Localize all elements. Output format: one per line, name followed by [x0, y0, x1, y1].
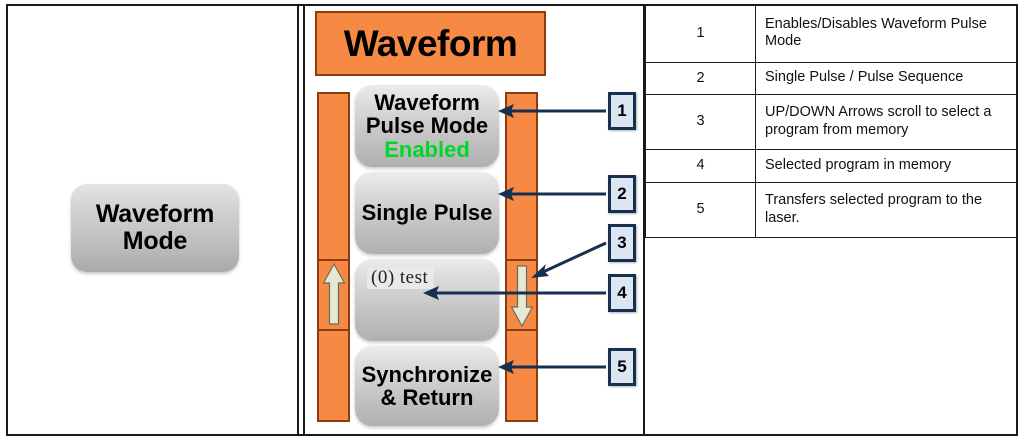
legend-number-2: 2 [646, 63, 756, 95]
callout-1[interactable]: 1 [608, 92, 636, 130]
legend-text-4: Selected program in memory [756, 150, 1018, 183]
legend-text-1: Enables/Disables Waveform Pulse Mode [756, 5, 1018, 63]
table-row: 4 Selected program in memory [646, 150, 1018, 183]
legend-text-5: Transfers selected program to the laser. [756, 183, 1018, 238]
table-row: 1 Enables/Disables Waveform Pulse Mode [646, 5, 1018, 63]
callout-4[interactable]: 4 [608, 274, 636, 312]
table-row: 5 Transfers selected program to the lase… [646, 183, 1018, 238]
legend-number-3: 3 [646, 95, 756, 150]
callout-4-number: 4 [617, 283, 626, 303]
legend-number-1: 1 [646, 5, 756, 63]
table-row: 3 UP/DOWN Arrows scroll to select a prog… [646, 95, 1018, 150]
callout-2-number: 2 [617, 184, 626, 204]
callout-1-number: 1 [617, 101, 626, 121]
legend-number-5: 5 [646, 183, 756, 238]
callout-5[interactable]: 5 [608, 348, 636, 386]
callout-3[interactable]: 3 [608, 224, 636, 262]
callout-5-number: 5 [617, 357, 626, 377]
legend-table-panel: 1 Enables/Disables Waveform Pulse Mode 2… [645, 4, 1018, 436]
legend-table: 1 Enables/Disables Waveform Pulse Mode 2… [645, 4, 1018, 238]
callout-2[interactable]: 2 [608, 175, 636, 213]
legend-text-2: Single Pulse / Pulse Sequence [756, 63, 1018, 95]
figure-root: Waveform Mode Waveform Waveform P [0, 0, 1024, 445]
legend-text-3: UP/DOWN Arrows scroll to select a progra… [756, 95, 1018, 150]
legend-number-4: 4 [646, 150, 756, 183]
callout-3-number: 3 [617, 233, 626, 253]
table-row: 2 Single Pulse / Pulse Sequence [646, 63, 1018, 95]
